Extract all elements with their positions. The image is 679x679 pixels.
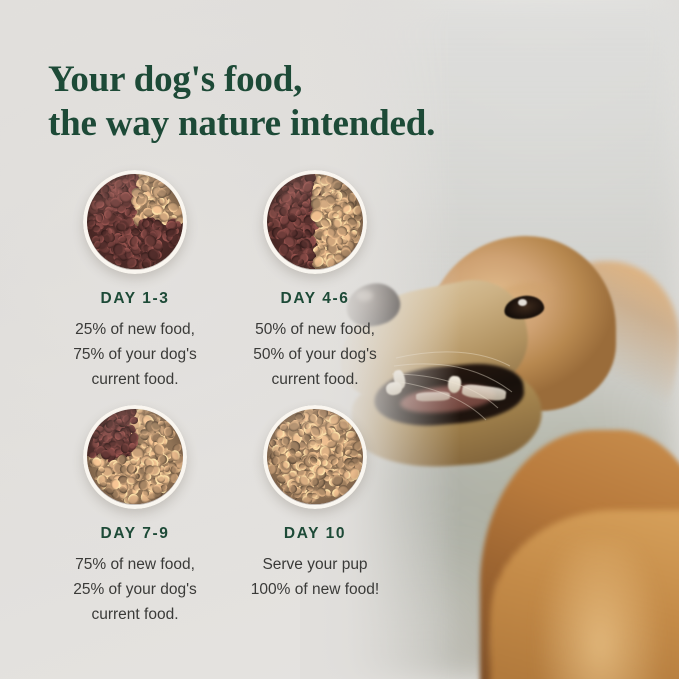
day-label: DAY 1-3 <box>35 290 235 308</box>
day-label: DAY 4-6 <box>215 290 415 308</box>
page-title: Your dog's food, the way nature intended… <box>48 58 435 146</box>
bowl-day-1-3 <box>83 170 187 274</box>
step-card-4: DAY 10 Serve your pup 100% of new food! <box>215 405 415 602</box>
transition-guide-graphic: Your dog's food, the way nature intended… <box>0 0 679 679</box>
step-card-2: DAY 4-6 50% of new food, 50% of your dog… <box>215 170 415 392</box>
step-card-3: DAY 7-9 75% of new food, 25% of your dog… <box>35 405 235 627</box>
step-description: Serve your pup 100% of new food! <box>215 552 415 602</box>
step-card-1: DAY 1-3 25% of new food, 75% of your dog… <box>35 170 235 392</box>
step-description: 75% of new food, 25% of your dog's curre… <box>35 552 235 627</box>
day-label: DAY 7-9 <box>35 525 235 543</box>
step-description: 25% of new food, 75% of your dog's curre… <box>35 317 235 392</box>
day-label: DAY 10 <box>215 525 415 543</box>
bowl-day-10 <box>263 405 367 509</box>
bowl-day-7-9 <box>83 405 187 509</box>
bowl-day-4-6 <box>263 170 367 274</box>
step-description: 50% of new food, 50% of your dog's curre… <box>215 317 415 392</box>
